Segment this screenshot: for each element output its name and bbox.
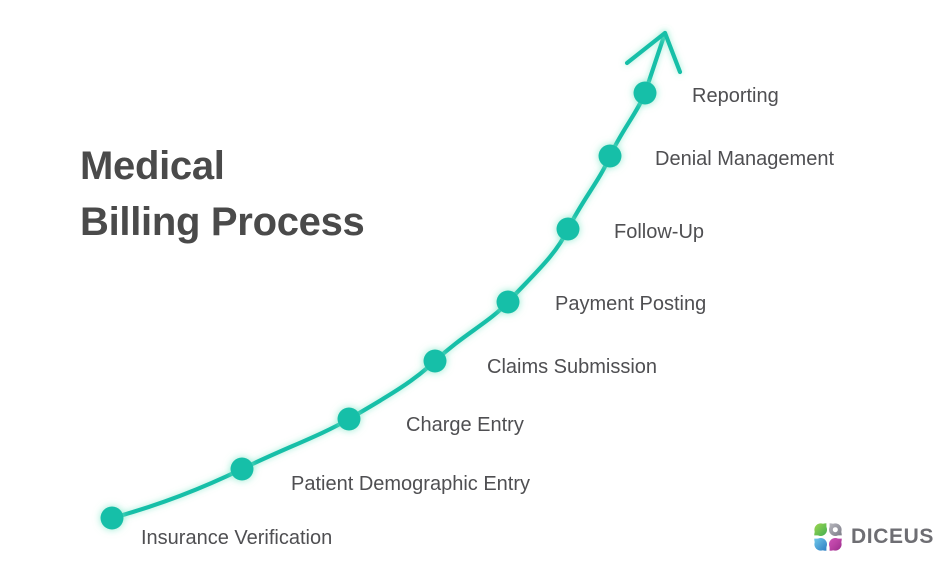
step-label-insurance-verification: Insurance Verification — [141, 526, 332, 550]
diceus-wordmark: DICEUS — [851, 526, 934, 548]
infographic-canvas: Medical Billing Process Reporting Denial… — [0, 0, 950, 567]
step-label-patient-demographic-entry: Patient Demographic Entry — [291, 472, 530, 496]
step-label-payment-posting: Payment Posting — [555, 292, 706, 316]
data-point-follow-up — [557, 218, 580, 241]
data-point-charge-entry — [338, 408, 361, 431]
data-point-insurance-verification — [101, 507, 124, 530]
page-title-line-1: Medical — [80, 138, 500, 194]
step-label-follow-up: Follow-Up — [614, 220, 704, 244]
data-point-reporting — [634, 82, 657, 105]
data-point-claims-submission — [424, 350, 447, 373]
page-title: Medical Billing Process — [80, 138, 500, 250]
step-label-denial-management: Denial Management — [655, 147, 834, 171]
data-point-payment-posting — [497, 291, 520, 314]
data-point-patient-demographic-entry — [231, 458, 254, 481]
step-label-claims-submission: Claims Submission — [487, 355, 657, 379]
page-title-line-2: Billing Process — [80, 194, 500, 250]
growth-curve-line — [112, 33, 665, 518]
step-label-reporting: Reporting — [692, 84, 779, 108]
step-label-charge-entry: Charge Entry — [406, 413, 524, 437]
data-point-denial-management — [599, 145, 622, 168]
diceus-flower-logo-icon — [812, 521, 844, 553]
diceus-logo[interactable]: DICEUS — [812, 521, 934, 553]
